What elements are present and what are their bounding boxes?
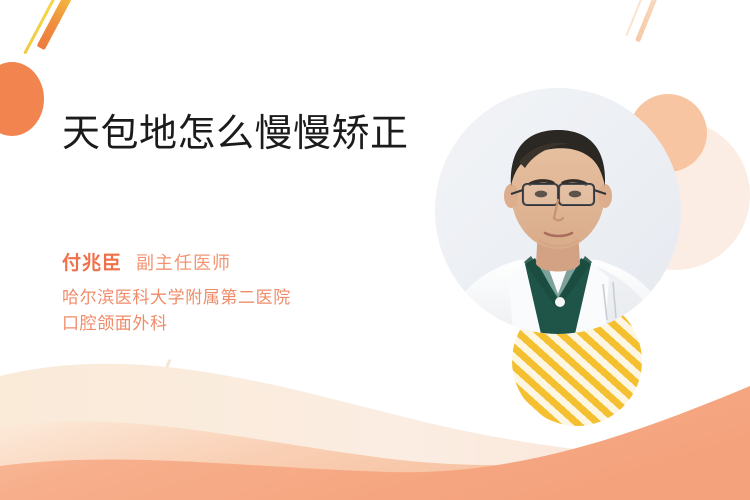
- doctor-rank: 副主任医师: [136, 249, 231, 275]
- orange-circle-icon: [0, 62, 44, 136]
- yellow-diagonal-stripe-icon: [23, 0, 59, 54]
- orange-diagonal-stripe-icon: [37, 0, 77, 50]
- doctor-name: 付兆臣: [62, 248, 122, 275]
- page-title: 天包地怎么慢慢矫正: [62, 110, 412, 158]
- title-block: 天包地怎么慢慢矫正: [62, 110, 412, 158]
- doctor-identity: 付兆臣 副主任医师: [62, 248, 231, 275]
- bottom-diagonal-stripe-icon: [154, 359, 172, 397]
- department-name: 口腔颌面外科: [62, 311, 291, 337]
- faint-diagonal-stripe-wide-icon: [635, 0, 666, 42]
- doctor-affiliation: 哈尔滨医科大学附属第二医院 口腔颌面外科: [62, 285, 291, 338]
- doctor-feature-card: 天包地怎么慢慢矫正 付兆臣 副主任医师 哈尔滨医科大学附属第二医院 口腔颌面外科: [0, 0, 750, 500]
- bottom-waves-graphic: [0, 340, 750, 500]
- doctor-portrait: [435, 88, 681, 334]
- faint-diagonal-stripe-icon: [625, 0, 650, 36]
- hospital-name: 哈尔滨医科大学附属第二医院: [62, 285, 291, 311]
- portrait-illustration: [435, 88, 681, 334]
